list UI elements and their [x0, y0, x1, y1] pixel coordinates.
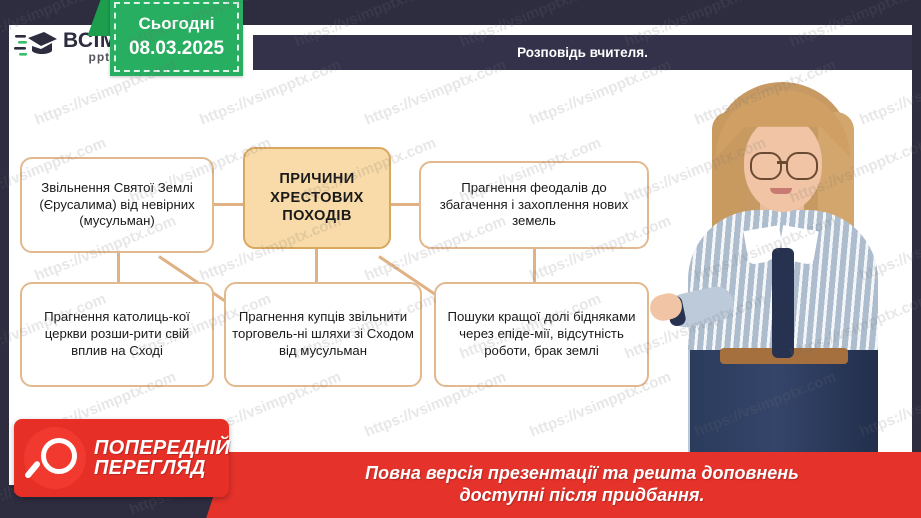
preview-line-1: ПОПЕРЕДНІЙ	[94, 438, 230, 458]
diagram-node-center[interactable]: ПРИЧИНИ ХРЕСТОВИХ ПОХОДІВ	[243, 147, 391, 249]
diagram-node-left[interactable]: Звільнення Святої Землі (Єрусалима) від …	[20, 157, 214, 253]
today-badge: Сьогодні 08.03.2025	[110, 0, 243, 76]
banner-line-2: доступні після придбання.	[460, 485, 705, 507]
magnifier-icon	[24, 427, 86, 489]
preview-badge[interactable]: ПОПЕРЕДНІЙ ПЕРЕГЛЯД	[14, 419, 229, 497]
mouth	[770, 188, 792, 194]
purchase-banner: Повна версія презентації та решта доповн…	[243, 452, 921, 518]
graduation-cap-icon	[14, 30, 58, 64]
causes-diagram: Звільнення Святої Землі (Єрусалима) від …	[9, 85, 669, 415]
connector-center-bottom	[315, 247, 318, 284]
connector-left-down	[117, 253, 120, 283]
diagram-node-bottom-right[interactable]: Пошуки кращої долі бідняками через епіде…	[434, 282, 649, 387]
preview-line-2: ПЕРЕГЛЯД	[94, 458, 230, 478]
diagram-node-bottom-left[interactable]: Прагнення католиць-кої церкви розши-рити…	[20, 282, 214, 387]
slide-title: Розповідь вчителя.	[517, 45, 648, 60]
diagram-node-right[interactable]: Прагнення феодалів до збагачення і захоп…	[419, 161, 649, 249]
glasses-left-lens	[750, 152, 782, 180]
today-date: 08.03.2025	[129, 38, 224, 60]
today-label: Сьогодні	[139, 14, 215, 34]
necktie	[772, 248, 794, 358]
glasses-bridge	[777, 161, 787, 164]
teacher-photo	[660, 60, 905, 485]
preview-label: ПОПЕРЕДНІЙ ПЕРЕГЛЯД	[94, 438, 230, 479]
connector-center-left	[214, 203, 246, 206]
diagram-node-bottom-middle[interactable]: Прагнення купців звільнити торговель-ні …	[224, 282, 422, 387]
connector-right-down	[533, 249, 536, 283]
screenshot-root: ВСІМ pptx Сьогодні 08.03.2025 Розповідь …	[0, 0, 921, 518]
glasses-right-lens	[786, 152, 818, 180]
slide-title-bar: Розповідь вчителя.	[253, 35, 912, 70]
banner-line-1: Повна версія презентації та решта доповн…	[365, 463, 799, 485]
connector-center-right	[389, 203, 421, 206]
